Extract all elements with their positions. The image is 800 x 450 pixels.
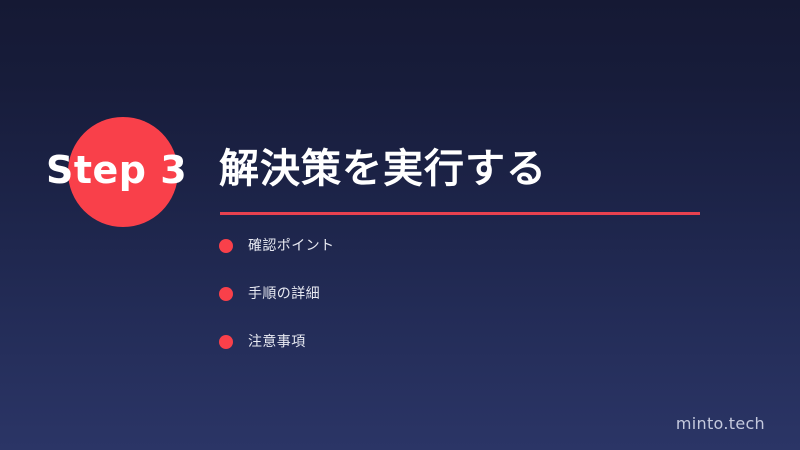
list-item-label: 確認ポイント xyxy=(248,236,334,256)
list-item-label: 手順の詳細 xyxy=(248,284,320,304)
presentation-slide: Step 3 解決策を実行する 確認ポイント 手順の詳細 注意事項 minto.… xyxy=(0,0,800,450)
bullet-dot-icon xyxy=(219,239,233,253)
bullet-dot-icon xyxy=(219,287,233,301)
list-item: 手順の詳細 xyxy=(219,284,679,304)
slide-title: 解決策を実行する xyxy=(219,144,547,194)
list-item-label: 注意事項 xyxy=(248,332,306,352)
step-number-label: Step 3 xyxy=(46,148,221,192)
bullet-list: 確認ポイント 手順の詳細 注意事項 xyxy=(219,236,679,380)
list-item: 注意事項 xyxy=(219,332,679,352)
list-item: 確認ポイント xyxy=(219,236,679,256)
footer-brand-label: minto.tech xyxy=(676,414,765,433)
title-divider-rule xyxy=(220,212,700,215)
bullet-dot-icon xyxy=(219,335,233,349)
